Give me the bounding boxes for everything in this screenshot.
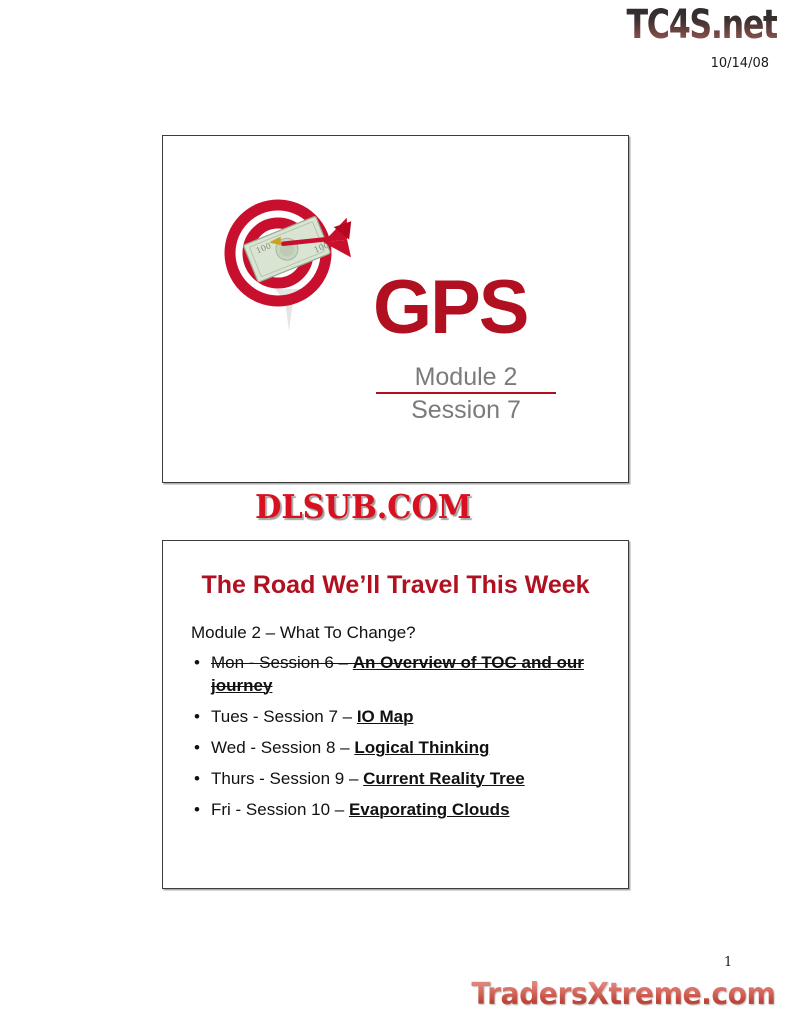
gps-module-label: Module 2	[376, 363, 556, 394]
agenda-item-prefix: Thurs - Session 9 –	[211, 769, 363, 788]
agenda-item-topic: Evaporating Clouds	[349, 800, 510, 819]
gps-session-label: Session 7	[376, 394, 556, 426]
agenda-item-prefix: Fri - Session 10 –	[211, 800, 349, 819]
agenda-intro-line: Module 2 – What To Change?	[189, 623, 609, 643]
slide-agenda: The Road We’ll Travel This Week Module 2…	[162, 540, 629, 889]
dlsub-watermark: DLSUB.COM	[255, 487, 472, 526]
agenda-item: •Thurs - Session 9 – Current Reality Tre…	[189, 768, 609, 791]
page-header: TC4S.net 10/14/08	[0, 0, 791, 88]
agenda-list: •Mon - Session 6 – An Overview of TOC an…	[189, 652, 609, 822]
agenda-item: •Mon - Session 6 – An Overview of TOC an…	[189, 652, 609, 698]
gps-wordmark: GPS	[373, 277, 528, 339]
gps-subtitle-block: Module 2 Session 7	[376, 363, 556, 426]
slide-title-gps: 100 100 GPS Module 2 Session 7	[162, 135, 629, 483]
agenda-item: •Wed - Session 8 – Logical Thinking	[189, 737, 609, 760]
agenda-item-topic: Logical Thinking	[354, 738, 489, 757]
bullet-icon: •	[194, 768, 200, 791]
agenda-item: •Tues - Session 7 – IO Map	[189, 706, 609, 729]
agenda-item: •Fri - Session 10 – Evaporating Clouds	[189, 799, 609, 822]
target-bullseye-dart-money-icon: 100 100	[223, 197, 353, 337]
agenda-item-prefix: Wed - Session 8 –	[211, 738, 354, 757]
tradersxtreme-footer-logo: TradersXtreme.com	[471, 977, 775, 1012]
page-number: 1	[724, 955, 732, 970]
slide-agenda-body: Module 2 – What To Change? •Mon - Sessio…	[189, 623, 609, 830]
agenda-item-topic: Current Reality Tree	[363, 769, 525, 788]
agenda-item-topic: IO Map	[357, 707, 414, 726]
bullet-icon: •	[194, 706, 200, 729]
gps-logo-block: 100 100 GPS Module 2 Session 7	[223, 191, 583, 421]
bullet-icon: •	[194, 737, 200, 760]
slide-agenda-title: The Road We’ll Travel This Week	[163, 571, 628, 600]
agenda-item-prefix: Tues - Session 7 –	[211, 707, 357, 726]
bullet-icon: •	[194, 799, 200, 822]
header-date: 10/14/08	[711, 56, 769, 71]
tc4s-site-logo: TC4S.net	[627, 2, 777, 48]
agenda-item-prefix: Mon - Session 6 –	[211, 653, 353, 672]
bullet-icon: •	[194, 652, 200, 675]
